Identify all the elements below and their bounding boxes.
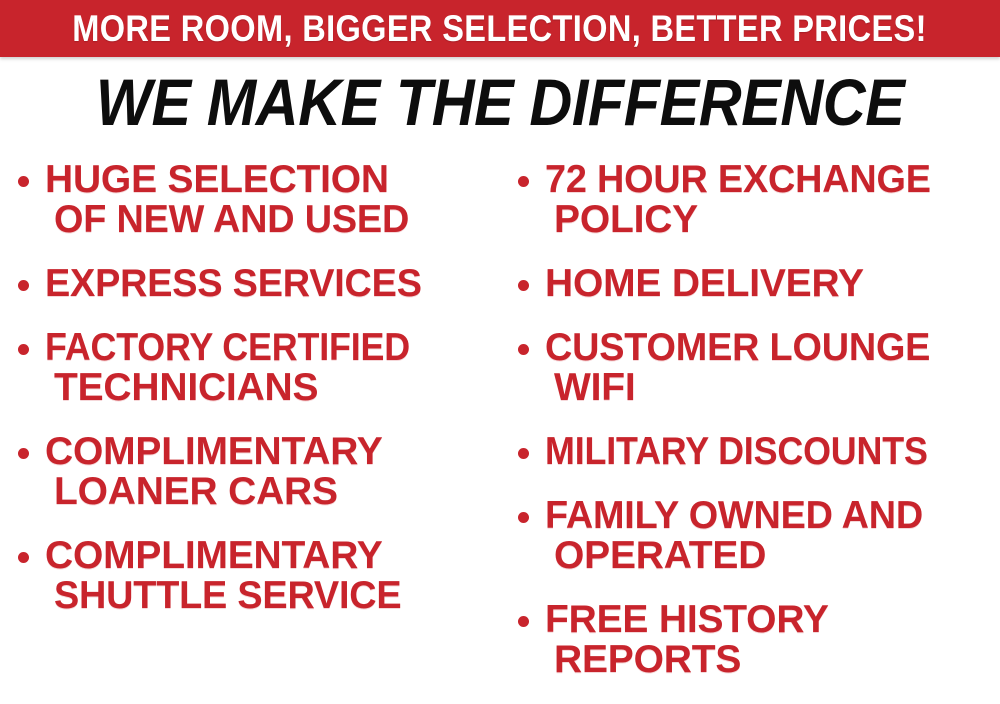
benefit-item-line-text: COMPLIMENTARY — [45, 430, 383, 473]
benefit-item-line-text: FREE HISTORY — [545, 598, 829, 641]
benefit-item-line-text: EXPRESS SERVICES — [45, 264, 422, 304]
benefits-columns: HUGE SELECTIONOF NEW AND USEDEXPRESS SER… — [0, 160, 1000, 694]
benefit-item-line-text: SHUTTLE SERVICE — [54, 576, 401, 616]
benefits-column-left: HUGE SELECTIONOF NEW AND USEDEXPRESS SER… — [18, 160, 500, 640]
bullet-dot-icon — [18, 176, 29, 187]
benefit-item-line-text: FAMILY OWNED AND — [545, 496, 923, 536]
benefit-item: HOME DELIVERY — [518, 264, 1000, 304]
benefit-item-line: FACTORY CERTIFIED — [45, 328, 500, 368]
benefit-item-line: HOME DELIVERY — [545, 264, 1000, 304]
benefit-item-text: FACTORY CERTIFIEDTECHNICIANS — [45, 328, 500, 408]
promo-banner-text: MORE ROOM, BIGGER SELECTION, BETTER PRIC… — [73, 10, 928, 47]
benefit-item-line: MILITARY DISCOUNTS — [545, 432, 1000, 472]
benefit-item-line: HUGE SELECTION — [45, 160, 500, 200]
benefit-item-line-text: 72 HOUR EXCHANGE — [545, 160, 931, 200]
benefit-item: CUSTOMER LOUNGEWIFI — [518, 328, 1000, 408]
benefit-item-line: TECHNICIANS — [45, 368, 500, 408]
bullet-dot-icon — [18, 552, 29, 563]
benefit-item-line: EXPRESS SERVICES — [45, 264, 500, 304]
benefit-item-text: HUGE SELECTIONOF NEW AND USED — [45, 160, 500, 240]
bullet-dot-icon — [518, 280, 529, 291]
benefit-item-text: HOME DELIVERY — [545, 264, 1000, 304]
benefit-item-line: OF NEW AND USED — [45, 200, 500, 240]
benefit-item-line: COMPLIMENTARY — [45, 432, 500, 472]
benefit-item-line-text: TECHNICIANS — [54, 366, 318, 409]
benefit-item-line: OPERATED — [545, 536, 1000, 576]
benefit-item: EXPRESS SERVICES — [18, 264, 500, 304]
benefit-item-line-text: REPORTS — [554, 638, 741, 681]
bullet-dot-icon — [18, 344, 29, 355]
bullet-dot-icon — [18, 448, 29, 459]
bullet-dot-icon — [518, 512, 529, 523]
benefit-item: 72 HOUR EXCHANGEPOLICY — [518, 160, 1000, 240]
benefit-item-line-text: MILITARY DISCOUNTS — [545, 432, 928, 472]
bullet-dot-icon — [18, 280, 29, 291]
benefit-item-line-text: LOANER CARS — [54, 470, 338, 513]
benefit-item: HUGE SELECTIONOF NEW AND USED — [18, 160, 500, 240]
benefit-item-line: COMPLIMENTARY — [45, 536, 500, 576]
benefit-item-text: COMPLIMENTARYLOANER CARS — [45, 432, 500, 512]
benefit-item-line: SHUTTLE SERVICE — [45, 576, 500, 616]
benefit-item-text: COMPLIMENTARYSHUTTLE SERVICE — [45, 536, 500, 616]
benefit-item-line-text: WIFI — [554, 366, 636, 409]
benefit-item-line: FAMILY OWNED AND — [545, 496, 1000, 536]
benefit-item-line-text: OF NEW AND USED — [54, 200, 409, 240]
benefit-item-text: FREE HISTORYREPORTS — [545, 600, 1000, 680]
benefit-item-text: EXPRESS SERVICES — [45, 264, 500, 304]
benefit-item-line: POLICY — [545, 200, 1000, 240]
benefit-item: FACTORY CERTIFIEDTECHNICIANS — [18, 328, 500, 408]
benefits-column-right: 72 HOUR EXCHANGEPOLICYHOME DELIVERYCUSTO… — [518, 160, 1000, 704]
benefit-item-line-text: CUSTOMER LOUNGE — [545, 328, 930, 368]
benefit-item-line: CUSTOMER LOUNGE — [545, 328, 1000, 368]
benefit-item-text: 72 HOUR EXCHANGEPOLICY — [545, 160, 1000, 240]
benefit-item-text: MILITARY DISCOUNTS — [545, 432, 1000, 472]
benefit-item-line-text: POLICY — [554, 198, 698, 241]
benefit-item: FAMILY OWNED ANDOPERATED — [518, 496, 1000, 576]
headline: WE MAKE THE DIFFERENCE — [0, 69, 1000, 135]
benefit-item-line: WIFI — [545, 368, 1000, 408]
benefit-item-line: 72 HOUR EXCHANGE — [545, 160, 1000, 200]
benefit-item: FREE HISTORYREPORTS — [518, 600, 1000, 680]
benefit-item: MILITARY DISCOUNTS — [518, 432, 1000, 472]
benefit-item-text: CUSTOMER LOUNGEWIFI — [545, 328, 1000, 408]
benefit-item-line-text: COMPLIMENTARY — [45, 534, 383, 577]
benefit-item-line-text: OPERATED — [554, 534, 766, 577]
benefit-item-line-text: FACTORY CERTIFIED — [45, 328, 410, 368]
benefit-item-line-text: HOME DELIVERY — [545, 262, 864, 305]
bullet-dot-icon — [518, 616, 529, 627]
bullet-dot-icon — [518, 448, 529, 459]
benefit-item: COMPLIMENTARYSHUTTLE SERVICE — [18, 536, 500, 616]
benefit-item-line: REPORTS — [545, 640, 1000, 680]
bullet-dot-icon — [518, 344, 529, 355]
benefit-item-text: FAMILY OWNED ANDOPERATED — [545, 496, 1000, 576]
benefit-item-line-text: HUGE SELECTION — [45, 158, 389, 201]
headline-text: WE MAKE THE DIFFERENCE — [96, 69, 905, 135]
benefit-item: COMPLIMENTARYLOANER CARS — [18, 432, 500, 512]
benefit-item-line: FREE HISTORY — [545, 600, 1000, 640]
benefit-item-line: LOANER CARS — [45, 472, 500, 512]
promo-banner: MORE ROOM, BIGGER SELECTION, BETTER PRIC… — [0, 0, 1000, 57]
bullet-dot-icon — [518, 176, 529, 187]
